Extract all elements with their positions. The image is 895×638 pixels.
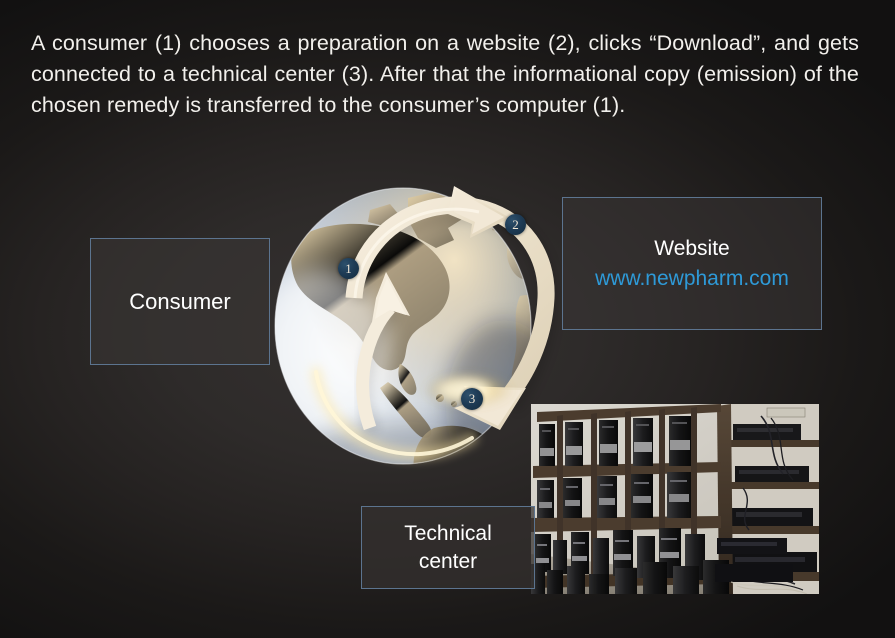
technical-center-line2: center bbox=[419, 548, 477, 576]
consumer-box-label: Consumer bbox=[129, 289, 230, 315]
technical-center-line1: Technical bbox=[404, 520, 492, 548]
step-badge-1-label: 1 bbox=[345, 261, 352, 277]
server-room-photo bbox=[531, 404, 819, 594]
step-badge-2: 2 bbox=[505, 214, 526, 235]
slide-canvas: A consumer (1) chooses a preparation on … bbox=[0, 0, 895, 638]
consumer-box[interactable]: Consumer bbox=[90, 238, 270, 365]
website-box-title: Website bbox=[654, 234, 729, 264]
step-badge-2-label: 2 bbox=[512, 217, 519, 233]
website-box[interactable]: Website www.newpharm.com bbox=[562, 197, 822, 330]
step-badge-3-label: 3 bbox=[469, 391, 476, 407]
step-badge-3: 3 bbox=[461, 388, 483, 410]
technical-center-box[interactable]: Technical center bbox=[361, 506, 535, 589]
step-badge-1: 1 bbox=[338, 258, 359, 279]
website-url-label[interactable]: www.newpharm.com bbox=[595, 264, 789, 294]
caption-paragraph: A consumer (1) chooses a preparation on … bbox=[31, 28, 859, 121]
